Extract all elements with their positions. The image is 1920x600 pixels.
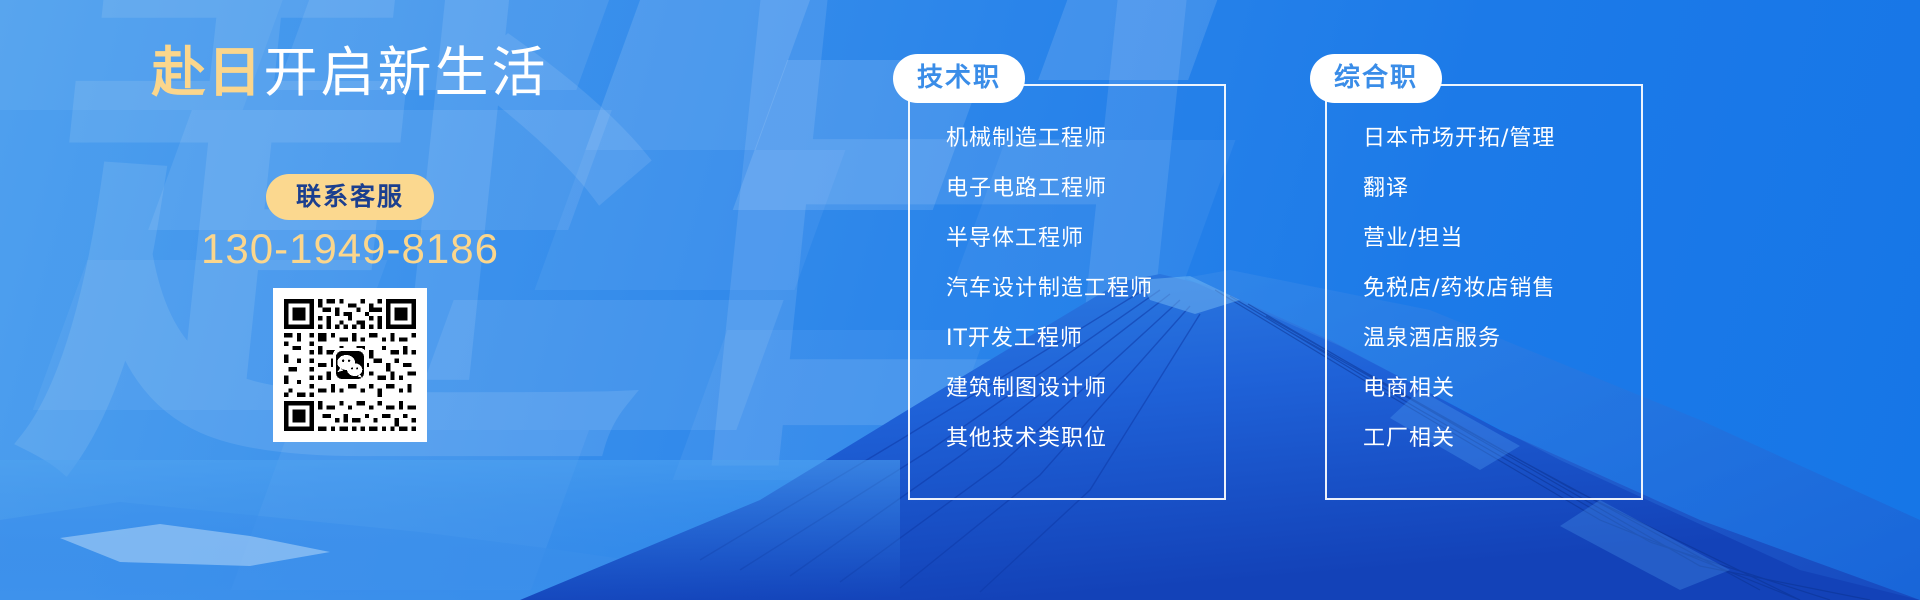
job-list-tech: 机械制造工程师 电子电路工程师 半导体工程师 汽车设计制造工程师 IT开发工程师… — [946, 114, 1218, 464]
job-list-general: 日本市场开拓/管理 翻译 营业/担当 免税店/药妆店销售 温泉酒店服务 电商相关… — [1363, 114, 1635, 464]
job-item[interactable]: 营业/担当 — [1363, 214, 1635, 264]
job-item[interactable]: 其他技术类职位 — [946, 414, 1218, 464]
job-column-general: 综合职 日本市场开拓/管理 翻译 营业/担当 免税店/药妆店销售 温泉酒店服务 … — [1325, 84, 1643, 500]
job-item[interactable]: 翻译 — [1363, 164, 1635, 214]
job-item[interactable]: 工厂相关 — [1363, 414, 1635, 464]
qr-code-image — [280, 295, 420, 435]
job-item[interactable]: 机械制造工程师 — [946, 114, 1218, 164]
page-title: 赴日开启新生活 — [0, 46, 700, 100]
contact-customer-service-button[interactable]: 联系客服 — [266, 174, 434, 220]
job-item[interactable]: IT开发工程师 — [946, 314, 1218, 364]
job-column-tech: 技术职 机械制造工程师 电子电路工程师 半导体工程师 汽车设计制造工程师 IT开… — [908, 84, 1226, 500]
promo-banner: 赴日 — [0, 0, 1920, 600]
headline-highlight: 赴日 — [152, 41, 264, 104]
phone-number[interactable]: 130-1949-8186 — [0, 228, 700, 270]
job-item[interactable]: 半导体工程师 — [946, 214, 1218, 264]
wechat-icon — [333, 348, 367, 382]
job-item[interactable]: 免税店/药妆店销售 — [1363, 264, 1635, 314]
job-item[interactable]: 电商相关 — [1363, 364, 1635, 414]
column-badge-tech[interactable]: 技术职 — [893, 54, 1025, 103]
job-item[interactable]: 汽车设计制造工程师 — [946, 264, 1218, 314]
headline-rest: 开启新生活 — [264, 41, 549, 104]
wechat-qr-code[interactable] — [273, 288, 427, 442]
job-item[interactable]: 日本市场开拓/管理 — [1363, 114, 1635, 164]
job-item[interactable]: 电子电路工程师 — [946, 164, 1218, 214]
column-badge-general[interactable]: 综合职 — [1310, 54, 1442, 103]
left-panel: 赴日开启新生活 联系客服 130-1949-8186 — [0, 0, 700, 600]
job-item[interactable]: 温泉酒店服务 — [1363, 314, 1635, 364]
job-item[interactable]: 建筑制图设计师 — [946, 364, 1218, 414]
